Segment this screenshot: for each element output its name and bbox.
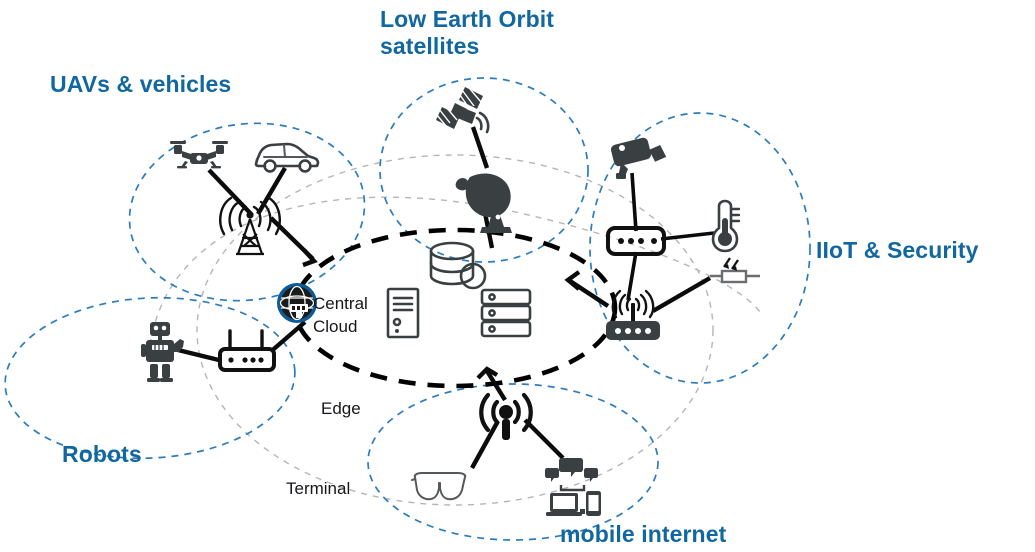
link-gateway-thermometer: [661, 233, 714, 239]
cluster-title-mobile: mobile internet: [560, 521, 727, 547]
devices-chat-icon: [545, 458, 601, 516]
robot-icon: [141, 322, 184, 382]
rack-server-icon: [482, 290, 530, 336]
security-camera-icon: [610, 137, 667, 179]
globe-cloud-icon: [277, 283, 317, 323]
link-iiot-cloud-arrow: [568, 272, 579, 289]
thermometer-icon: [713, 201, 739, 251]
link-gateway-router: [628, 252, 636, 300]
link-tower-cloud-arrow: [303, 250, 314, 265]
satellite-dish-icon: [456, 173, 512, 233]
label-edge: Edge: [321, 399, 361, 418]
label-central-cloud-line2: Cloud: [313, 317, 357, 336]
layer-ring-group: [150, 155, 760, 505]
mobile-cluster-ring: [368, 384, 658, 540]
gateway-switch-icon: [608, 228, 664, 254]
wireless-access-point-icon: [481, 395, 531, 440]
diagram-canvas: UAVs & vehicles Low Earth Orbit satellit…: [0, 0, 1035, 552]
ar-glasses-icon: [412, 473, 465, 499]
database-icon: [431, 243, 485, 288]
cluster-title-leo-line2: satellites: [380, 33, 479, 59]
network-architecture-diagram: UAVs & vehicles Low Earth Orbit satellit…: [0, 0, 1035, 552]
drone-icon: [170, 141, 228, 168]
car-icon: [256, 144, 318, 171]
cluster-title-robots: Robots: [62, 441, 142, 467]
cluster-title-uavs: UAVs & vehicles: [50, 71, 231, 97]
link-devices-ap: [525, 420, 563, 458]
label-terminal: Terminal: [286, 479, 350, 498]
cluster-title-leo-line1: Low Earth Orbit: [380, 6, 554, 32]
router-antenna-icon: [220, 331, 274, 370]
link-car-tower: [258, 168, 285, 214]
link-group: [178, 127, 714, 468]
cluster-title-iiot: IIoT & Security: [816, 237, 979, 263]
link-router-sensor: [653, 278, 710, 311]
cell-tower-icon: [220, 198, 280, 254]
link-satellite-dish: [473, 127, 487, 168]
server-tower-icon: [388, 289, 418, 337]
satellite-icon: [436, 87, 488, 132]
link-camera-gateway: [632, 173, 636, 231]
label-central-cloud-line1: Central: [313, 294, 368, 313]
wifi-router-icon: [606, 291, 660, 340]
photoresistor-sensor-icon: [710, 258, 760, 282]
